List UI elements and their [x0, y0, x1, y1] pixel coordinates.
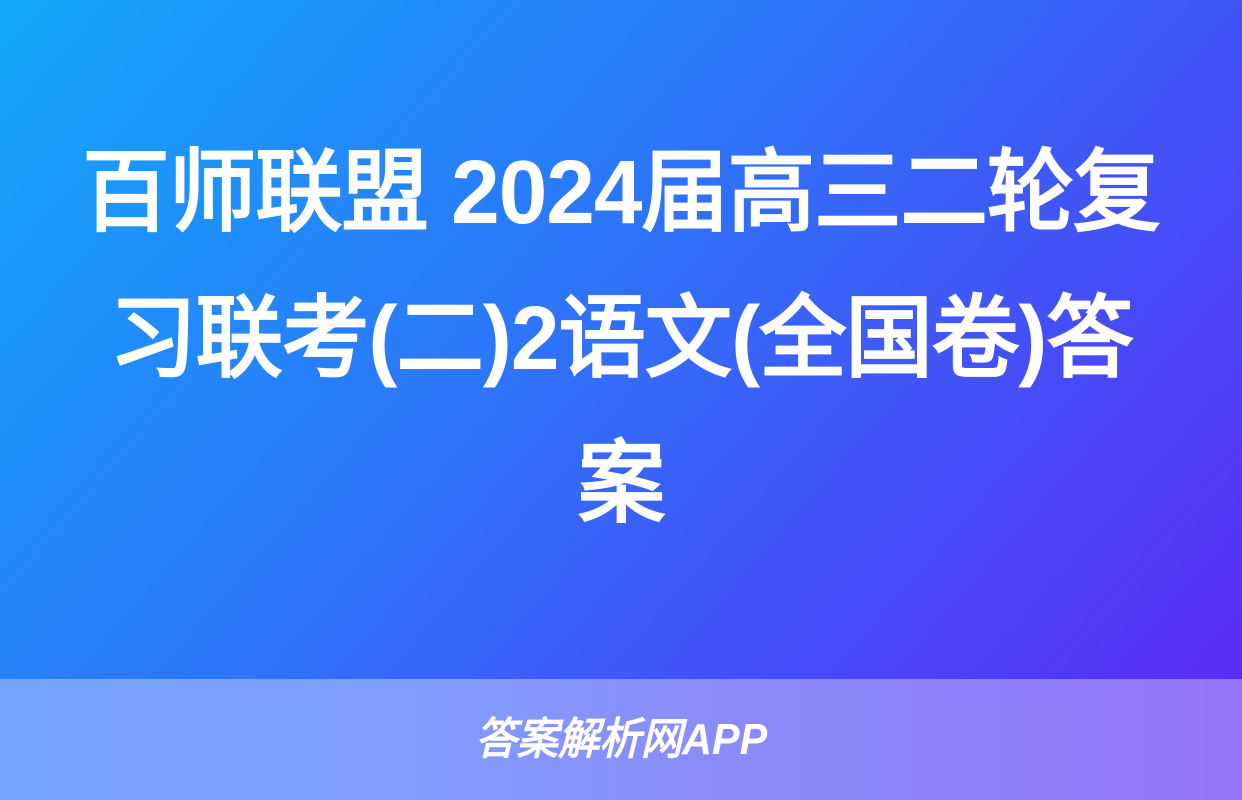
poster-canvas: 百师联盟 2024届高三二轮复习联考(二)2语文(全国卷)答案 答案解析网APP — [0, 0, 1242, 800]
title-block: 百师联盟 2024届高三二轮复习联考(二)2语文(全国卷)答案 — [56, 121, 1186, 558]
app-watermark-label: 答案解析网APP — [475, 718, 767, 762]
hero-banner: 百师联盟 2024届高三二轮复习联考(二)2语文(全国卷)答案 — [0, 0, 1242, 679]
footer-watermark-band: 答案解析网APP — [0, 679, 1242, 800]
page-title: 百师联盟 2024届高三二轮复习联考(二)2语文(全国卷)答案 — [79, 121, 1163, 558]
